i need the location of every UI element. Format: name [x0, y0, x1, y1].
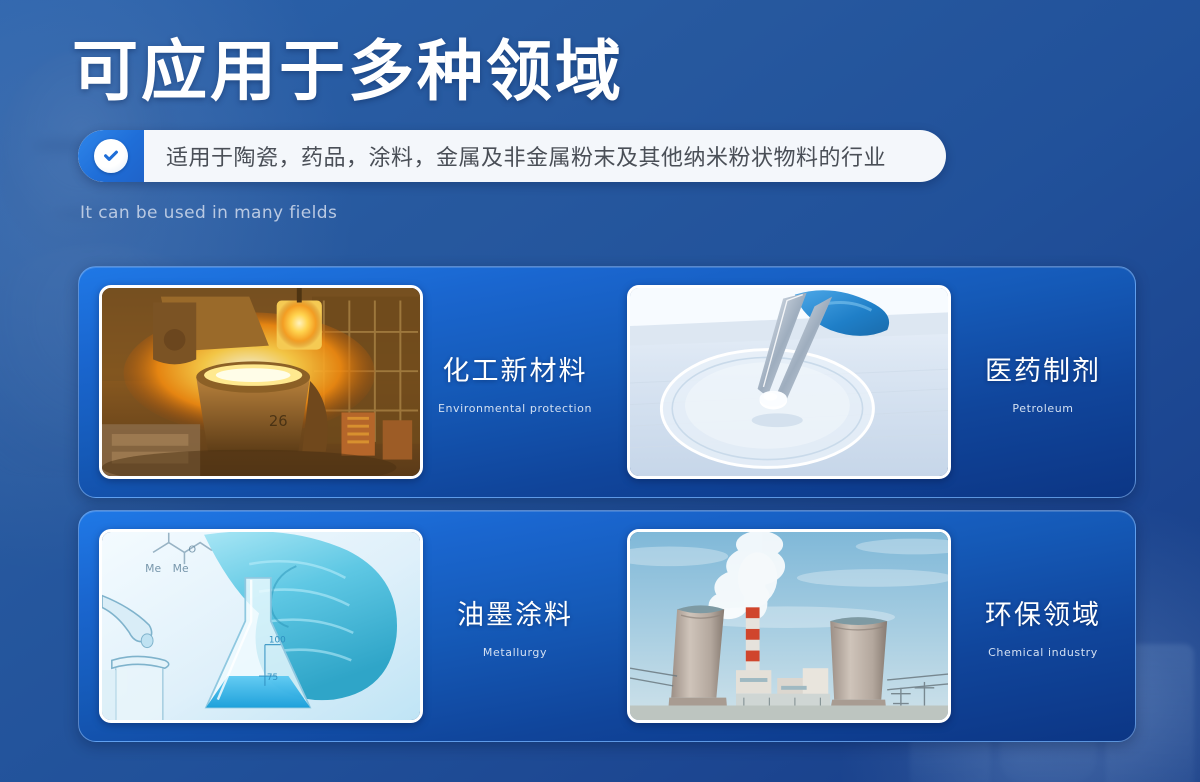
svg-text:26: 26 — [269, 413, 288, 430]
category-panel-row-1: 26 化工新材料 Environmental protection — [78, 266, 1136, 498]
promo-banner-page: 可应用于多种领域 适用于陶瓷，药品，涂料，金属及非金属粉末及其他纳米粉状物料的行… — [0, 0, 1200, 782]
caption-title-cn: 油墨涂料 — [431, 593, 599, 632]
category-panel-row-2: Me Me O OH — [78, 510, 1136, 742]
caption-title-en: Metallurgy — [431, 646, 599, 659]
caption-title-cn: 环保领域 — [959, 593, 1127, 632]
svg-text:100: 100 — [269, 636, 286, 646]
caption-title-en: Environmental protection — [431, 402, 599, 415]
caption-ink-coatings: 油墨涂料 Metallurgy — [423, 593, 607, 659]
caption-title-en: Chemical industry — [959, 646, 1127, 659]
check-circle-icon — [94, 139, 128, 173]
category-cell-pharmaceutical-preparations[interactable]: 医药制剂 Petroleum — [607, 267, 1135, 497]
molten-metal-furnace-photo: 26 — [99, 285, 423, 479]
svg-text:75: 75 — [267, 673, 278, 683]
category-cell-environmental-protection[interactable]: 环保领域 Chemical industry — [607, 511, 1135, 741]
caption-chemical-new-materials: 化工新材料 Environmental protection — [423, 349, 607, 415]
subtitle-banner: 适用于陶瓷，药品，涂料，金属及非金属粉末及其他纳米粉状物料的行业 — [78, 130, 946, 182]
caption-title-en: Petroleum — [959, 402, 1127, 415]
caption-title-cn: 医药制剂 — [959, 349, 1127, 388]
subtitle-english: It can be used in many fields — [80, 203, 337, 223]
page-title: 可应用于多种领域 — [72, 38, 624, 104]
caption-pharmaceutical-preparations: 医药制剂 Petroleum — [951, 349, 1135, 415]
svg-text:Me: Me — [145, 562, 161, 575]
banner-badge — [78, 130, 144, 182]
caption-title-cn: 化工新材料 — [431, 349, 599, 388]
petri-dish-tweezers-pill-photo — [627, 285, 951, 479]
svg-text:O: O — [188, 544, 196, 555]
svg-text:Me: Me — [173, 562, 189, 575]
category-cell-chemical-new-materials[interactable]: 26 化工新材料 Environmental protection — [79, 267, 607, 497]
banner-text: 适用于陶瓷，药品，涂料，金属及非金属粉末及其他纳米粉状物料的行业 — [144, 130, 946, 182]
category-cell-ink-coatings[interactable]: Me Me O OH — [79, 511, 607, 741]
caption-environmental-protection: 环保领域 Chemical industry — [951, 593, 1135, 659]
lab-flask-blue-liquid-photo: Me Me O OH — [99, 529, 423, 723]
cooling-towers-smokestack-photo — [627, 529, 951, 723]
